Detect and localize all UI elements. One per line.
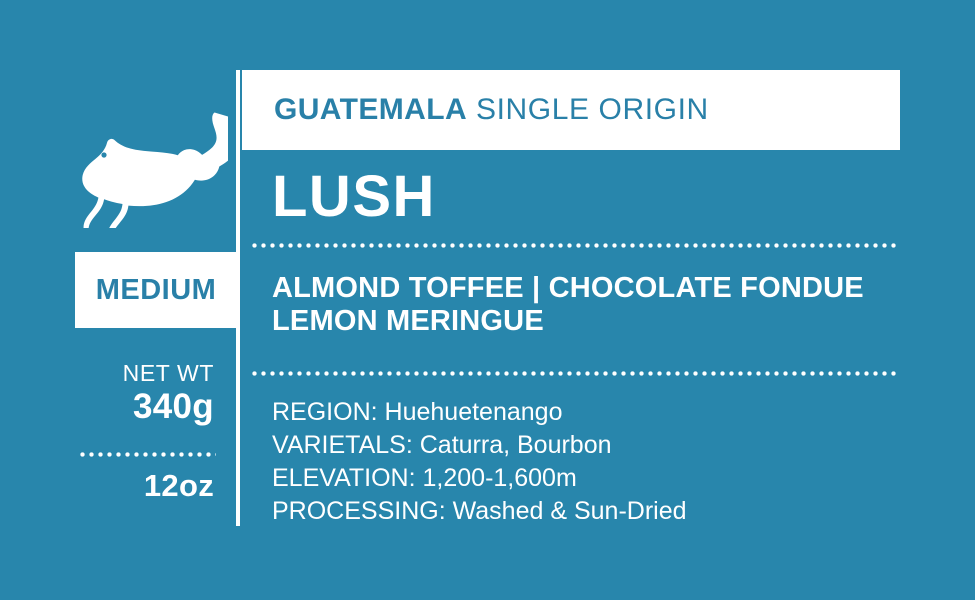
detail-value: 1,200-1,600m — [423, 464, 577, 492]
detail-value: Washed & Sun-Dried — [453, 497, 687, 525]
origin-type: SINGLE ORIGIN — [476, 93, 709, 126]
net-weight-label: NET WT — [48, 360, 214, 386]
leaping-panther-icon — [68, 108, 228, 228]
dotted-divider-below-notes — [250, 371, 900, 376]
tasting-note-line: ALMOND TOFFEE | CHOCOLATE FONDUE — [272, 272, 912, 305]
origin-header-text: GUATEMALA SINGLE ORIGIN — [274, 93, 709, 127]
origin-header-block: GUATEMALA SINGLE ORIGIN — [242, 70, 900, 150]
tasting-note-line: LEMON MERINGUE — [272, 305, 912, 338]
dotted-divider-weights — [78, 452, 216, 457]
net-weight-ounces: 12oz — [48, 468, 214, 504]
detail-value: Huehuetenango — [385, 398, 563, 426]
coffee-bag-label: GUATEMALA SINGLE ORIGIN LUSH ALMOND TOFF… — [0, 0, 975, 600]
detail-label: PROCESSING: — [272, 497, 446, 525]
detail-label: ELEVATION: — [272, 464, 416, 492]
roast-level-label: MEDIUM — [96, 274, 217, 307]
detail-label: VARIETALS: — [272, 431, 413, 459]
detail-row-elevation: ELEVATION: 1,200-1,600m — [272, 462, 687, 495]
origin-country: GUATEMALA — [274, 93, 467, 126]
detail-label: REGION: — [272, 398, 378, 426]
net-weight-grams: 340g — [48, 386, 214, 428]
tasting-notes: ALMOND TOFFEE | CHOCOLATE FONDUE LEMON M… — [272, 272, 912, 338]
net-weight-block: NET WT 340g — [48, 360, 214, 428]
origin-details: REGION: Huehuetenango VARIETALS: Caturra… — [272, 396, 687, 528]
dotted-divider-above-notes — [250, 243, 900, 248]
product-name: LUSH — [272, 168, 436, 226]
detail-row-processing: PROCESSING: Washed & Sun-Dried — [272, 495, 687, 528]
roast-level-badge: MEDIUM — [75, 252, 237, 328]
detail-row-region: REGION: Huehuetenango — [272, 396, 687, 429]
detail-row-varietals: VARIETALS: Caturra, Bourbon — [272, 429, 687, 462]
detail-value: Caturra, Bourbon — [420, 431, 612, 459]
